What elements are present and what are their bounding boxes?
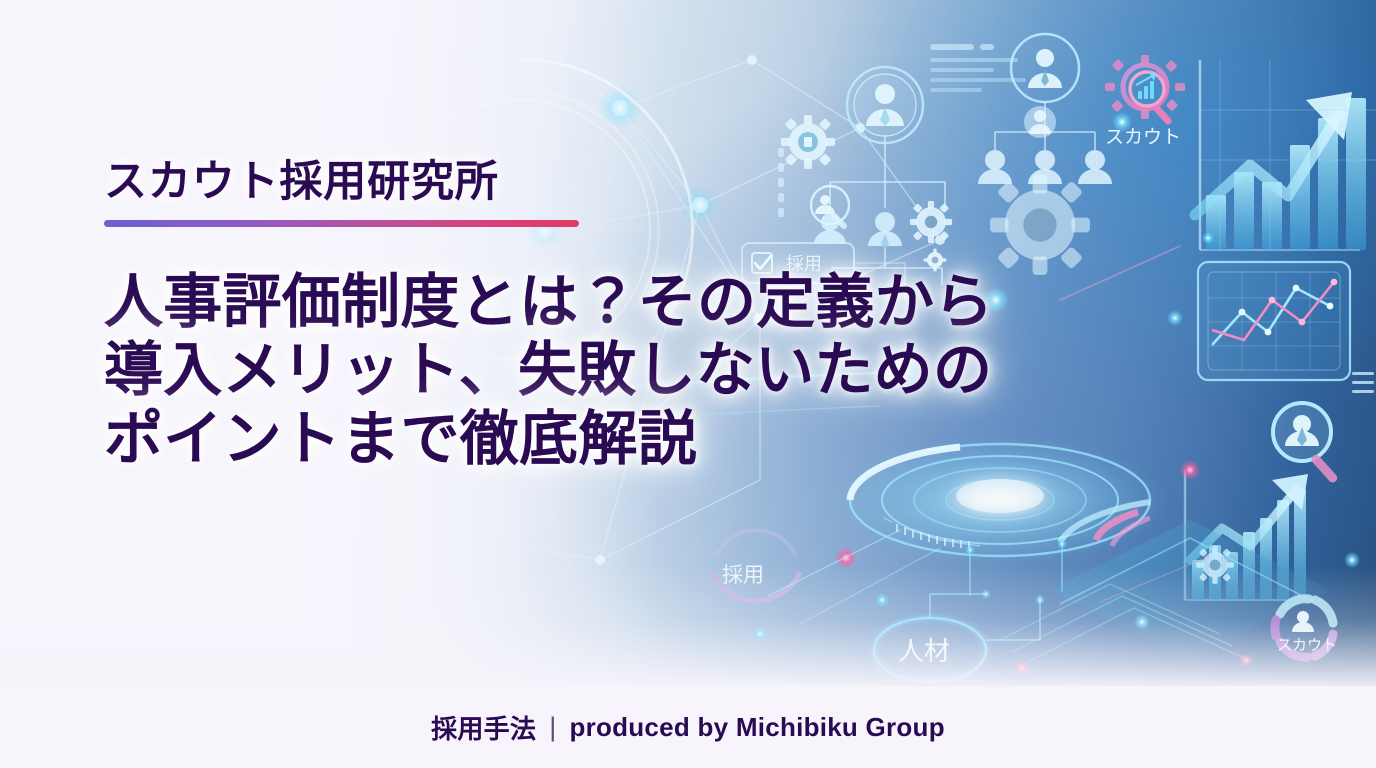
kicker-text: スカウト採用研究所 (104, 160, 624, 205)
growth-bar-chart-top (1195, 60, 1376, 250)
avatar-circle-lead (847, 67, 923, 143)
avatar-gear-center (1024, 106, 1056, 138)
avatar-circle-exec (1011, 34, 1079, 102)
footer-bar: 採用手法 | produced by Michibiku Group (0, 686, 1376, 768)
scout-gear-magnifier-icon: スカウト (1105, 55, 1185, 148)
kicker-underline (104, 220, 579, 227)
title-line-2: 導入メリット、失敗しないための (104, 336, 1314, 404)
title-line-3: ポイントまで徹底解説 (104, 405, 1314, 473)
gear-icon-large (990, 175, 1090, 275)
avatar-team-left (814, 213, 846, 244)
gear-icon-small (910, 201, 952, 243)
footer-credit-group: 採用手法 | produced by Michibiku Group (431, 709, 945, 746)
poster-canvas: 採用 (0, 0, 1376, 768)
kicker-block: スカウト採用研究所 (104, 160, 624, 227)
gear-icon-document (781, 115, 835, 169)
footer-credit: produced by Michibiku Group (569, 712, 944, 743)
footer-separator: | (549, 712, 556, 743)
bottom-gradient-fade (0, 566, 1376, 686)
dotted-divider (778, 148, 784, 217)
footer-category: 採用手法 (431, 709, 536, 746)
avatar-team-center (868, 212, 902, 249)
page-title: 人事評価制度とは？その定義から 導入メリット、失敗しないための ポイントまで徹底… (104, 268, 1314, 473)
title-line-1: 人事評価制度とは？その定義から (104, 268, 1314, 336)
dashboard-list-lines (1352, 372, 1374, 393)
